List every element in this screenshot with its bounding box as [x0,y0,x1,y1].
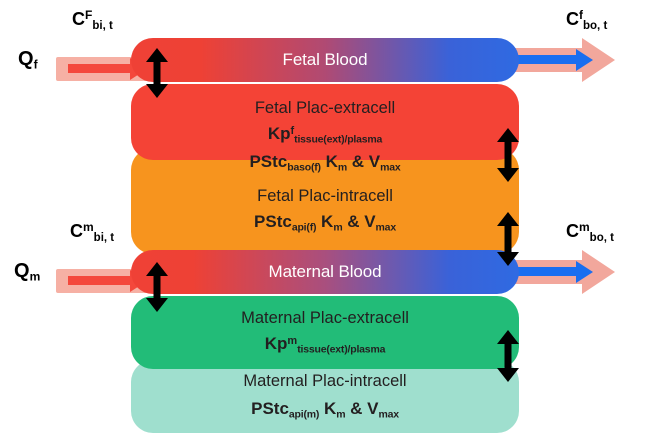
compartment-fetal-plac-intracell: Fetal Plac-intracell PStcapi(f) Km & Vma… [131,148,519,254]
arrow-head-down-icon [497,168,519,182]
arrow-head-up-icon [497,212,519,226]
compartment-label-maternal-plac-intracell: Maternal Plac-intracell [243,372,406,391]
compartment-label-fetal-plac-intracell: Fetal Plac-intracell [257,187,393,206]
arrow-head-up-icon [497,330,519,344]
exchange-arrow-fetal-blood-extracell [145,48,169,98]
arrow-head-down-icon [497,252,519,266]
compartment-maternal-blood: Maternal Blood [131,250,519,294]
transfer-arrow-maternal-extra-intra [496,330,520,382]
arrow-head-down-icon [146,298,168,312]
compartment-label-maternal-plac-extracell: Maternal Plac-extracell [241,309,409,328]
arrow-stem-dashed [505,141,512,169]
maternal-outflow-arrow [508,250,623,294]
compartment-maternal-plac-intracell: Maternal Plac-intracell PStcapi(m) Km & … [131,360,519,433]
formula-kp-maternal: Kpmtissue(ext)/plasma [265,334,385,355]
fetal-blood-in-concentration-label: CFbi, t [72,8,113,32]
maternal-blood-out-concentration-label: Cmbo, t [566,220,614,244]
arrow-head-down-icon [146,84,168,98]
transfer-arrow-fetal-extra-intra [496,128,520,182]
compartment-label-maternal-blood: Maternal Blood [269,262,382,282]
arrow-stem [154,274,161,300]
arrow-stem [154,60,161,86]
compartment-label-fetal-blood: Fetal Blood [283,50,368,70]
compartment-maternal-plac-extracell: Maternal Plac-extracell Kpmtissue(ext)/p… [131,296,519,369]
formula-pstc-api-m: PStcapi(m) Km & Vmax [251,399,399,420]
compartment-label-fetal-plac-extracell: Fetal Plac-extracell [255,99,395,118]
formula-pstc-api-f: PStcapi(f) Km & Vmax [254,212,396,233]
placental-pbpk-diagram: Fetal Blood Fetal Plac-extracell Kpftiss… [0,0,647,440]
compartment-fetal-plac-extracell: Fetal Plac-extracell Kpftissue(ext)/plas… [131,84,519,160]
maternal-inflow-arrow-shaft [68,276,132,285]
maternal-blood-in-concentration-label: Cmbi, t [70,220,114,244]
compartment-fetal-blood: Fetal Blood [131,38,519,82]
transfer-arrow-fetal-intra-maternal-blood [496,212,520,266]
arrow-head-down-icon [497,368,519,382]
fetal-inflow-arrow-shaft [68,64,132,73]
exchange-arrow-maternal-blood-extracell [145,262,169,312]
formula-kp-fetal: Kpftissue(ext)/plasma [268,124,382,145]
arrow-stem-dashed [505,343,512,369]
fetal-flow-rate-label: Qf [18,48,38,72]
arrow-head-up-icon [497,128,519,142]
fetal-outflow-arrow-head [576,49,593,71]
maternal-outflow-arrow-shaft [518,267,578,276]
fetal-outflow-arrow [508,38,623,82]
maternal-flow-rate-label: Qm [14,260,40,284]
fetal-blood-out-concentration-label: Cfbo, t [566,8,607,32]
maternal-outflow-arrow-head [576,261,593,283]
fetal-outflow-arrow-shaft [518,55,578,64]
arrow-stem-dashed [505,225,512,253]
